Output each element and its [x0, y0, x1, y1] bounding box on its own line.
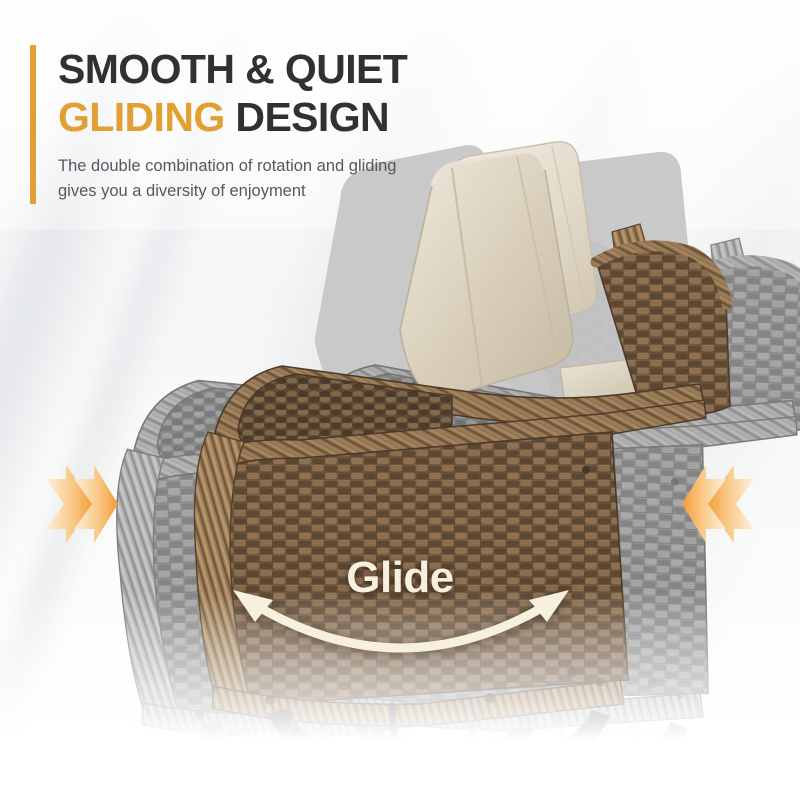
subtitle-line-2: gives you a diversity of enjoyment: [58, 179, 407, 204]
headline-text-group: SMOOTH & QUIET GLIDING DESIGN The double…: [58, 45, 407, 204]
page-title-line-1: SMOOTH & QUIET: [58, 45, 407, 93]
accent-bar: [30, 45, 36, 204]
marketing-image-canvas: Glide SMOOTH & QUIET GLIDING DESIGN The …: [0, 0, 800, 800]
subtitle-line-1: The double combination of rotation and g…: [58, 154, 407, 179]
glide-label: Glide: [0, 553, 800, 603]
double-chevron-right-icon: [44, 461, 120, 547]
subtitle: The double combination of rotation and g…: [58, 154, 407, 204]
page-title-rest-word: DESIGN: [225, 94, 389, 140]
double-chevron-left-icon: [680, 461, 756, 547]
page-title-accent-word: GLIDING: [58, 94, 225, 140]
page-title-line-2: GLIDING DESIGN: [58, 93, 407, 141]
headline-block: SMOOTH & QUIET GLIDING DESIGN The double…: [30, 45, 590, 204]
